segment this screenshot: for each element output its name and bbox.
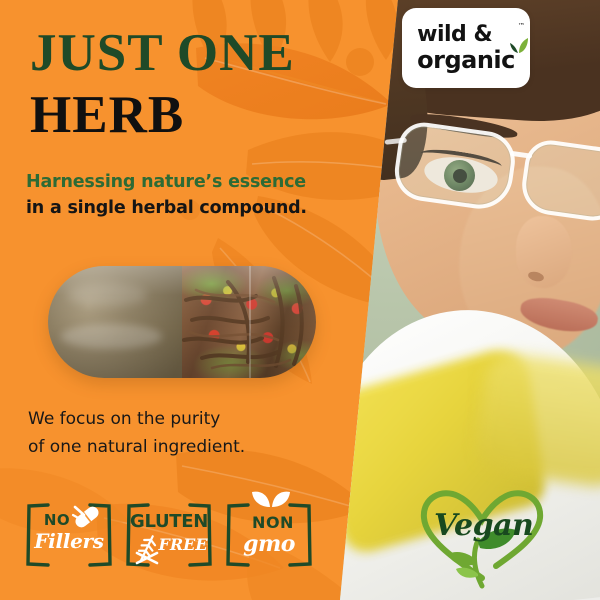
badge-non-gmo[interactable]: NON gmo xyxy=(226,497,312,569)
two-leaves-icon xyxy=(250,489,292,511)
badge-label-top: NO xyxy=(14,511,100,529)
herbal-capsule-image xyxy=(48,266,316,378)
certification-badges: NO Fillers GLUTEN FREE xyxy=(26,497,312,569)
capsule-herb-half xyxy=(182,266,316,378)
logo-line-organic: organic xyxy=(417,48,515,72)
badge-no-fillers[interactable]: NO Fillers xyxy=(26,497,112,569)
capsule-powder-half xyxy=(48,266,182,378)
leaf-sprout-icon xyxy=(508,34,530,56)
logo-line-wild: wild & xyxy=(417,24,515,46)
page-title-line-2: HERB xyxy=(30,90,184,142)
vegan-label: Vegan xyxy=(434,508,533,543)
brand-logo[interactable]: wild & organic ™ xyxy=(402,8,530,88)
badge-label-top: NON xyxy=(230,513,316,532)
vegan-seal[interactable]: Vegan xyxy=(412,486,552,592)
body-copy-line-1: We focus on the purity xyxy=(28,409,220,429)
trademark-symbol: ™ xyxy=(518,22,525,30)
subheadline-line-1: Harnessing nature’s essence xyxy=(26,172,306,192)
badge-label-bottom: gmo xyxy=(226,531,312,557)
badge-label-bottom: FREE xyxy=(140,535,226,554)
page-title-line-1: JUST ONE xyxy=(30,28,295,80)
body-copy-line-2: of one natural ingredient. xyxy=(28,437,245,457)
badge-label-bottom: Fillers xyxy=(26,529,112,553)
subheadline-line-2: in a single herbal compound. xyxy=(26,198,307,218)
badge-gluten-free[interactable]: GLUTEN FREE xyxy=(126,497,212,569)
badge-label-top: GLUTEN xyxy=(126,511,212,532)
poster-canvas: wild & organic ™ JUST ONE HERB Harnessin… xyxy=(0,0,600,600)
